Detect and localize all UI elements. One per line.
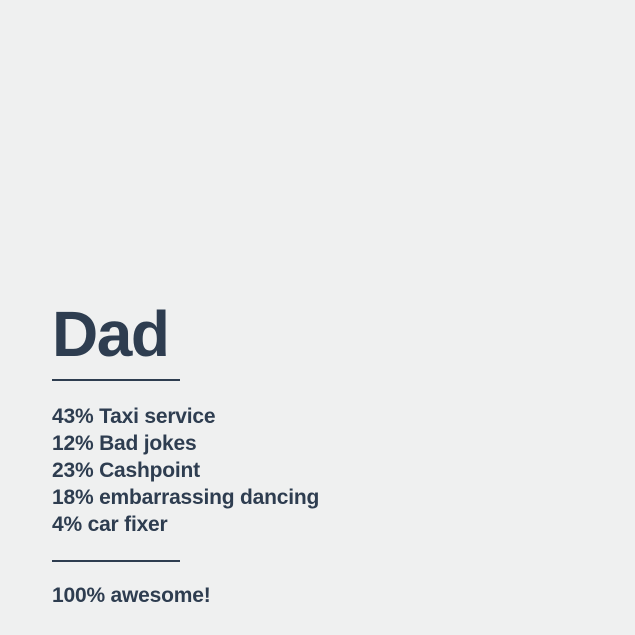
- list-item: 43% Taxi service: [52, 403, 592, 430]
- total-line: 100% awesome!: [52, 582, 592, 609]
- poster-content: Dad 43% Taxi service 12% Bad jokes 23% C…: [52, 302, 592, 609]
- page-title: Dad: [52, 302, 592, 366]
- poster-canvas: Dad 43% Taxi service 12% Bad jokes 23% C…: [0, 0, 635, 635]
- list-item: 12% Bad jokes: [52, 430, 592, 457]
- list-item: 18% embarrassing dancing: [52, 484, 592, 511]
- list-item: 4% car fixer: [52, 511, 592, 538]
- divider-top: [52, 379, 180, 381]
- stats-list: 43% Taxi service 12% Bad jokes 23% Cashp…: [52, 403, 592, 538]
- list-item: 23% Cashpoint: [52, 457, 592, 484]
- divider-bottom: [52, 560, 180, 562]
